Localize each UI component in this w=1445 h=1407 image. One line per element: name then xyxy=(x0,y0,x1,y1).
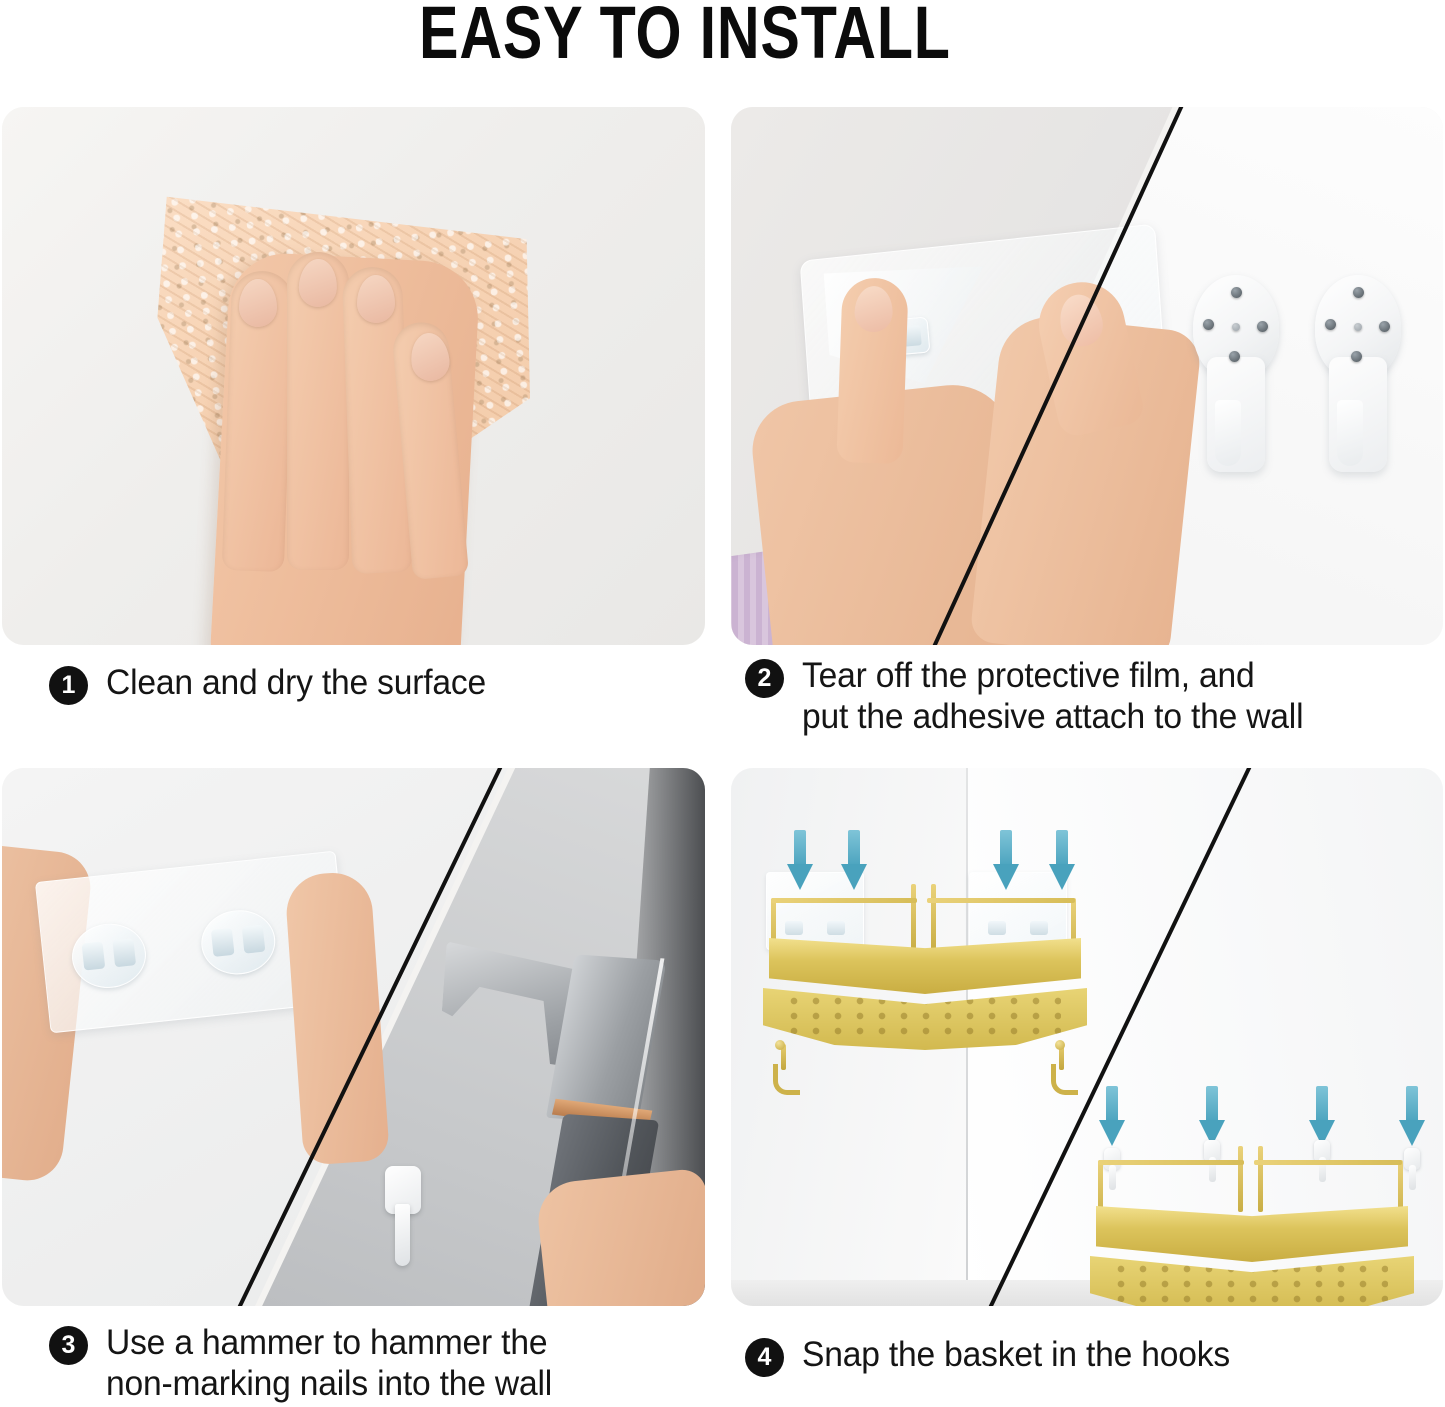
step-badge-3: 3 xyxy=(49,1326,88,1365)
wall-hook-icon xyxy=(1193,275,1279,470)
step-4-text: Snap the basket in the hooks xyxy=(802,1334,1230,1375)
step-1-image xyxy=(2,107,705,645)
step-4-line-1: Snap the basket in the hooks xyxy=(802,1335,1230,1374)
step-2-line-1: Tear off the protective film, and xyxy=(802,656,1254,695)
page-title: EASY TO INSTALL xyxy=(107,0,1263,72)
hand-holding-hammer xyxy=(535,1168,705,1306)
step-3-line-1: Use a hammer to hammer the xyxy=(106,1323,547,1362)
step-badge-4: 4 xyxy=(745,1338,784,1377)
step-badge-2: 2 xyxy=(745,659,784,698)
step-2-image xyxy=(731,107,1443,645)
diagonal-divider-icon xyxy=(731,768,1443,1306)
step-2-caption: 2 Tear off the protective film, and put … xyxy=(745,655,1324,738)
step-1-text: Clean and dry the surface xyxy=(106,662,486,703)
infographic-page: EASY TO INSTALL xyxy=(0,0,1445,1407)
step-1-caption: 1 Clean and dry the surface xyxy=(49,662,502,705)
nail-hook-icon xyxy=(385,1166,421,1266)
step-badge-1: 1 xyxy=(49,666,88,705)
wall-hook-icon xyxy=(1315,275,1401,470)
step-2-line-2: put the adhesive attach to the wall xyxy=(802,696,1303,737)
step-2-text: Tear off the protective film, and put th… xyxy=(802,655,1303,738)
step-3-text: Use a hammer to hammer the non-marking n… xyxy=(106,1322,552,1405)
step-3-image xyxy=(2,768,705,1306)
step-1-line-1: Clean and dry the surface xyxy=(106,663,486,702)
step-3-caption: 3 Use a hammer to hammer the non-marking… xyxy=(49,1322,571,1405)
step-4-image xyxy=(731,768,1443,1306)
step-3-line-2: non-marking nails into the wall xyxy=(106,1363,552,1404)
step-4-caption: 4 Snap the basket in the hooks xyxy=(745,1334,1248,1377)
